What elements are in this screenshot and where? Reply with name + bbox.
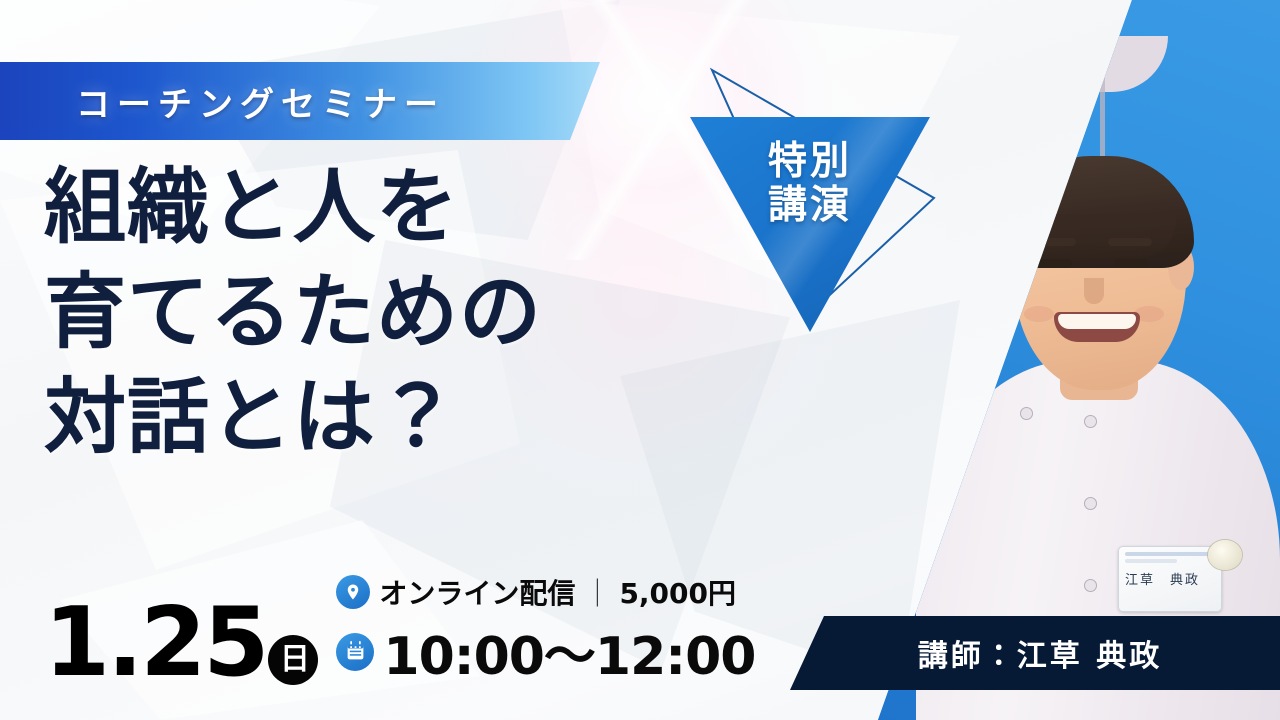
badge-line: [1125, 559, 1177, 563]
page-title: 組織と人を 育てるための 対話とは？: [44, 156, 764, 471]
portrait-button: [1084, 579, 1097, 592]
portrait-button: [1020, 407, 1033, 420]
event-time: 10:00〜12:00: [383, 614, 755, 689]
portrait-badge-clip: [1208, 540, 1242, 570]
portrait-teeth: [1058, 314, 1136, 329]
event-date: 1.25日: [44, 600, 318, 691]
headline-line-2: 育てるための: [44, 261, 764, 366]
portrait-eye: [1038, 259, 1072, 268]
portrait-button: [1084, 497, 1097, 510]
badge-line: [1125, 552, 1215, 556]
kicker-band: コーチングセミナー: [0, 62, 600, 140]
portrait-name-badge: 江草 典政: [1118, 546, 1222, 612]
calendar-icon: [336, 633, 374, 671]
time-row: 10:00〜12:00: [336, 614, 755, 689]
venue-row: オンライン配信｜5,000円: [336, 572, 755, 612]
speaker-label: 講師：江草 典政: [918, 631, 1162, 675]
portrait-button: [1084, 415, 1097, 428]
kicker-label: コーチングセミナー: [76, 77, 445, 126]
venue-and-price: オンライン配信｜5,000円: [379, 572, 736, 612]
portrait-cheek: [1024, 306, 1054, 322]
headline-line-1: 組織と人を: [44, 156, 764, 261]
venue-label: オンライン配信: [379, 577, 575, 610]
price-label: 5,000円: [619, 577, 736, 610]
badge-name-text: 江草 典政: [1125, 569, 1215, 588]
location-pin-icon: [336, 575, 370, 609]
day-of-week-badge: 日: [268, 635, 318, 685]
portrait-nose: [1084, 278, 1104, 304]
seminar-banner: 江草 典政 コーチングセミナー 特別 講演 組織と人を 育てるための 対話とは？…: [0, 0, 1280, 720]
schedule-block: 1.25日 オンライン配信｜5,000円: [44, 572, 755, 691]
portrait-eye: [1114, 259, 1148, 268]
event-date-text: 1.25: [44, 588, 266, 698]
headline-line-3: 対話とは？: [44, 366, 764, 471]
venue-price-separator: ｜: [583, 572, 611, 612]
speaker-name-bar: 講師：江草 典政: [790, 616, 1280, 690]
schedule-details: オンライン配信｜5,000円 10:00〜12:00: [336, 572, 755, 689]
portrait-eyebrow: [1108, 238, 1152, 246]
portrait-smile: [1054, 312, 1140, 342]
